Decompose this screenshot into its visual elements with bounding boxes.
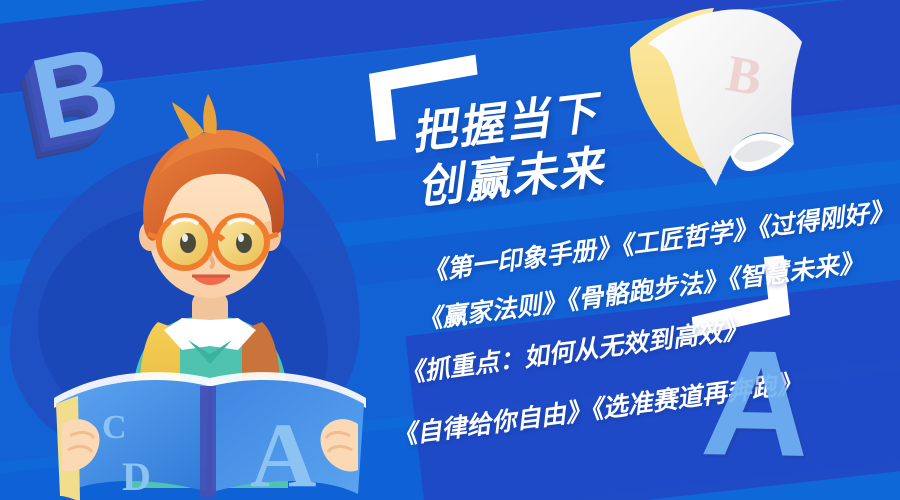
decorative-letter-a: A	[697, 327, 818, 479]
promo-banner: B	[0, 0, 900, 500]
